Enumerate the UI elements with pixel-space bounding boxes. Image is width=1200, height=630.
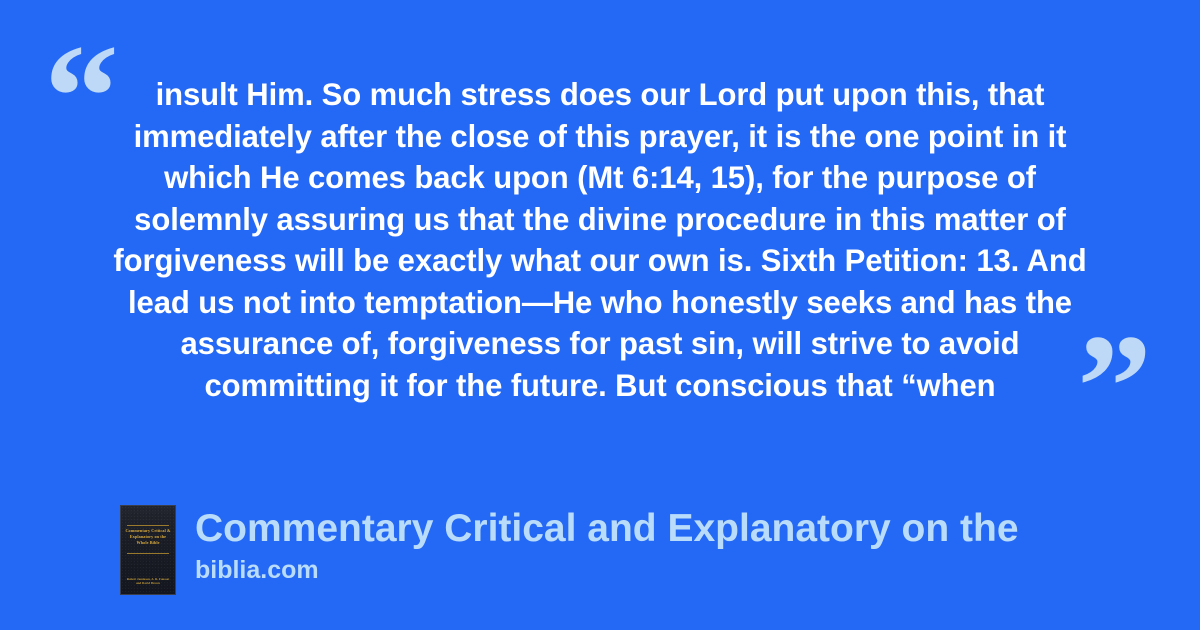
book-cover-thumbnail[interactable]: Commentary Critical & Explanatory on the… <box>120 505 176 595</box>
attribution[interactable]: Commentary Critical & Explanatory on the… <box>120 505 1160 595</box>
quote-text: insult Him. So much stress does our Lord… <box>108 74 1093 406</box>
cover-title-text: Commentary Critical & Explanatory on the… <box>125 528 171 546</box>
cover-divider-bottom <box>127 553 169 554</box>
quote-card: “ insult Him. So much stress does our Lo… <box>0 0 1200 630</box>
site-name[interactable]: biblia.com <box>195 555 1160 585</box>
book-title[interactable]: Commentary Critical and Explanatory on t… <box>195 506 1160 552</box>
attribution-text: Commentary Critical and Explanatory on t… <box>195 505 1160 585</box>
cover-authors-text: Robert Jamieson, A. R. Fausset and David… <box>124 577 172 586</box>
closing-quote-icon: ” <box>1077 312 1152 462</box>
cover-divider-top <box>127 525 169 526</box>
quote-block: insult Him. So much stress does our Lord… <box>100 74 1100 406</box>
